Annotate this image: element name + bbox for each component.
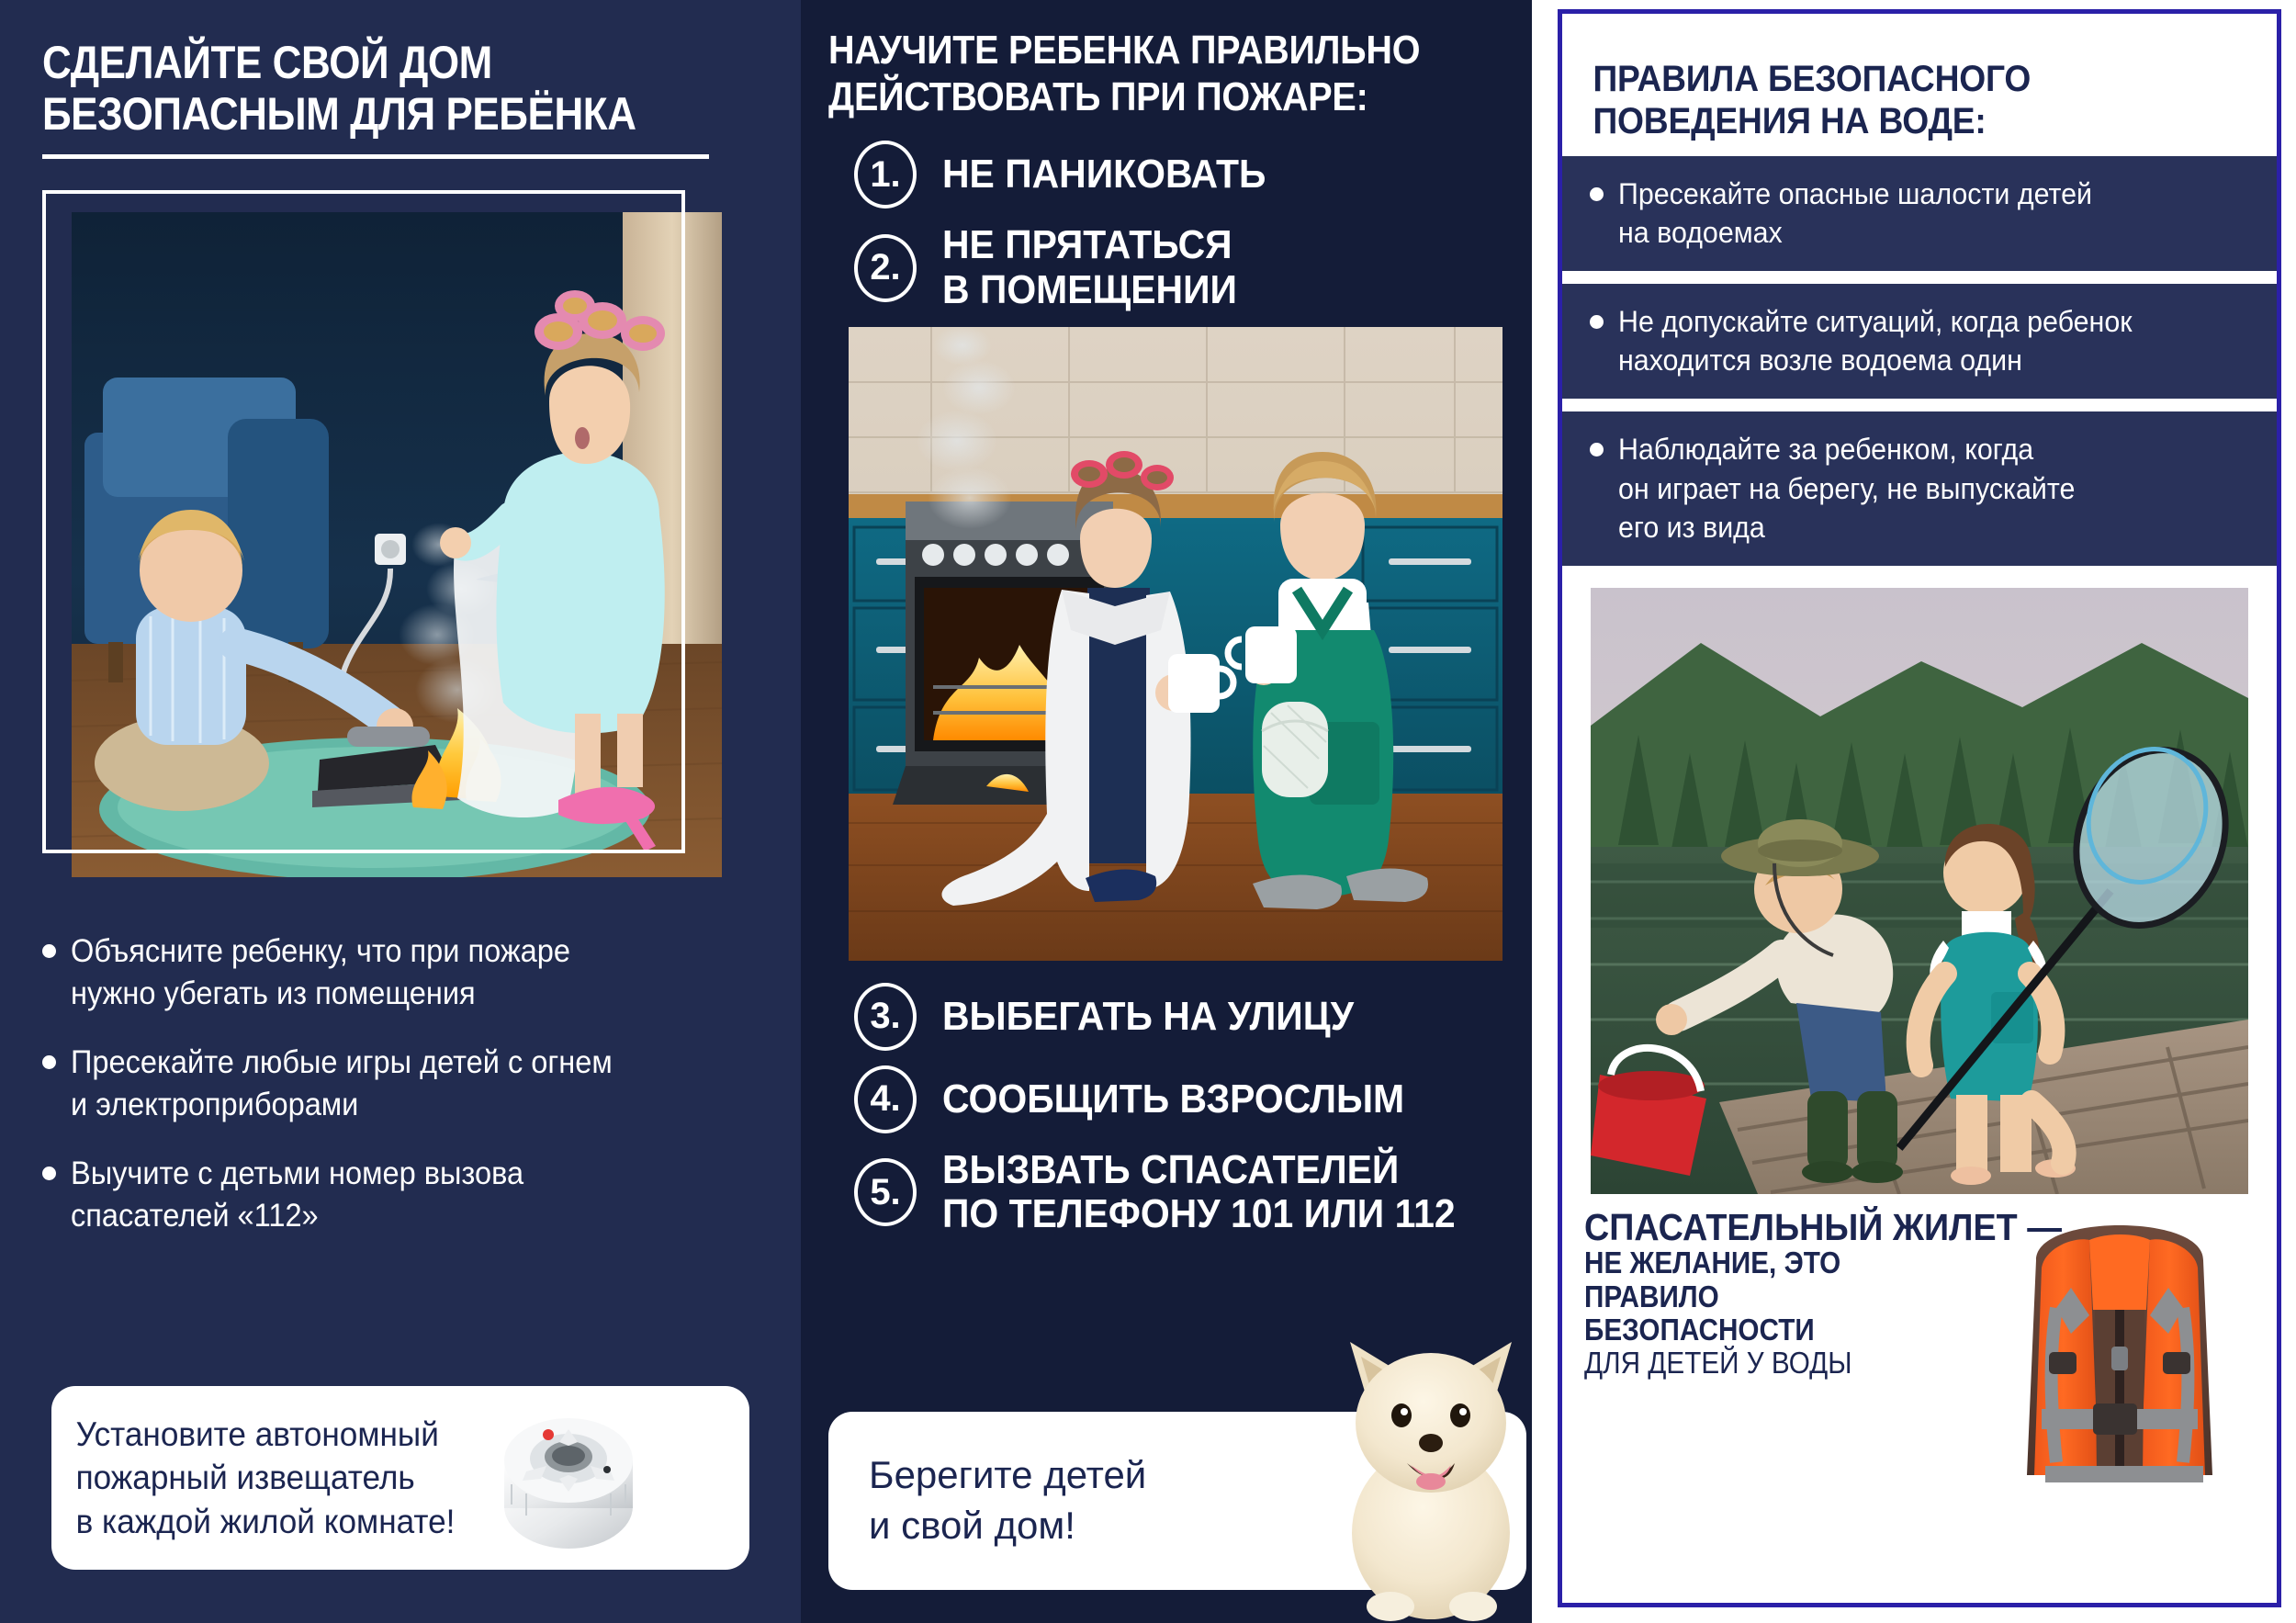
step-number-badge: 5. [854, 1158, 917, 1226]
list-item: Выучите с детьми номер вызова спасателей… [42, 1153, 759, 1236]
bullet-dot-icon [1590, 187, 1604, 201]
bullet-text: Выучите с детьми номер вызова спасателей… [71, 1153, 523, 1236]
list-item: 1. НЕ ПАНИКОВАТЬ [828, 141, 1510, 209]
column-home-safety: СДЕЛАЙТЕ СВОЙ ДОМ БЕЗОПАСНЫМ ДЛЯ РЕБЁНКА [0, 0, 801, 1623]
bullet-dot-icon [1590, 315, 1604, 329]
list-item: 4. СООБЩИТЬ ВЗРОСЛЫМ [828, 1065, 1510, 1133]
step-label: СООБЩИТЬ ВЗРОСЛЫМ [942, 1077, 1404, 1121]
life-jacket-line2a: НЕ ЖЕЛАНИЕ, [1584, 1245, 1776, 1279]
list-item: Наблюдайте за ребенком, когда он играет … [1562, 411, 2277, 566]
right-column-title: ПРАВИЛА БЕЗОПАСНОГО ПОВЕДЕНИЯ НА ВОДЕ: [1562, 14, 2227, 143]
column-fire-actions: НАУЧИТЕ РЕБЕНКА ПРАВИЛЬНО ДЕЙСТВОВАТЬ ПР… [801, 0, 1532, 1623]
list-item: Пресекайте любые игры детей с огнем и эл… [42, 1042, 759, 1125]
list-item: Объясните ребенку, что при пожаре нужно … [42, 930, 759, 1014]
bullet-dot-icon [42, 944, 56, 958]
detector-led-icon [543, 1429, 554, 1440]
smoke-detector-card-text: Установите автономный пожарный извещател… [51, 1400, 455, 1556]
mid-column-title: НАУЧИТЕ РЕБЕНКА ПРАВИЛЬНО ДЕЙСТВОВАТЬ ПР… [828, 28, 1442, 120]
step-label: ВЫЗВАТЬ СПАСАТЕЛЕЙ ПО ТЕЛЕФОНУ 101 ИЛИ 1… [942, 1148, 1456, 1237]
mid-photo [849, 327, 1503, 961]
bullet-dot-icon [42, 1055, 56, 1069]
bullet-dot-icon [1590, 443, 1604, 456]
bullet-dot-icon [42, 1167, 56, 1180]
protect-children-card-text: Берегите детей и свой дом! [828, 1450, 1146, 1550]
step-label: НЕ ПРЯТАТЬСЯ В ПОМЕЩЕНИИ [942, 223, 1237, 312]
smoke-detector-icon [477, 1392, 660, 1563]
smoke-detector-card: Установите автономный пожарный извещател… [51, 1386, 749, 1570]
life-jacket-block: СПАСАТЕЛЬНЫЙ ЖИЛЕТ — НЕ ЖЕЛАНИЕ, ЭТО ПРА… [1562, 1194, 2277, 1497]
fire-steps-bottom: 3. ВЫБЕГАТЬ НА УЛИЦУ 4. СООБЩИТЬ ВЗРОСЛЫ… [828, 983, 1510, 1237]
children-on-dock-lake-illustration [1591, 588, 2248, 1194]
step-number-badge: 3. [854, 983, 917, 1051]
step-number-badge: 1. [854, 141, 917, 209]
bullet-text: Не допускайте ситуаций, когда ребенок на… [1618, 302, 2133, 380]
safety-poster: СДЕЛАЙТЕ СВОЙ ДОМ БЕЗОПАСНЫМ ДЛЯ РЕБЁНКА [0, 0, 2296, 1623]
right-photo [1591, 588, 2248, 1194]
life-jacket-icon [1968, 1200, 2271, 1503]
left-bullet-list: Объясните ребенку, что при пожаре нужно … [42, 930, 759, 1236]
list-item: Не допускайте ситуаций, когда ребенок на… [1562, 284, 2277, 399]
bullet-text: Пресекайте опасные шалости детей на водо… [1618, 175, 2092, 253]
title-underline-rule [42, 154, 709, 159]
bullet-text: Пресекайте любые игры детей с огнем и эл… [71, 1042, 613, 1125]
left-column-title: СДЕЛАЙТЕ СВОЙ ДОМ БЕЗОПАСНЫМ ДЛЯ РЕБЁНКА [42, 37, 672, 140]
bullet-text: Наблюдайте за ребенком, когда он играет … [1618, 430, 2075, 547]
step-number-badge: 4. [854, 1065, 917, 1133]
list-item: 2. НЕ ПРЯТАТЬСЯ В ПОМЕЩЕНИИ [828, 223, 1510, 312]
water-safety-panel: ПРАВИЛА БЕЗОПАСНОГО ПОВЕДЕНИЯ НА ВОДЕ: П… [1558, 9, 2281, 1607]
step-label: ВЫБЕГАТЬ НА УЛИЦУ [942, 995, 1354, 1039]
step-label: НЕ ПАНИКОВАТЬ [942, 152, 1266, 197]
list-item: 3. ВЫБЕГАТЬ НА УЛИЦУ [828, 983, 1510, 1051]
children-kitchen-oven-fire-illustration [849, 327, 1503, 961]
children-ironing-fire-illustration [72, 212, 722, 877]
bullet-text: Объясните ребенку, что при пожаре нужно … [71, 930, 570, 1014]
step-number-badge: 2. [854, 234, 917, 302]
left-photo [72, 212, 722, 877]
right-bullet-list: Пресекайте опасные шалости детей на водо… [1562, 156, 2277, 566]
column-water-safety: ПРАВИЛА БЕЗОПАСНОГО ПОВЕДЕНИЯ НА ВОДЕ: П… [1532, 0, 2296, 1623]
pomeranian-dog-icon [1293, 1320, 1532, 1623]
life-jacket-line2b: ЭТО [1784, 1245, 1841, 1279]
left-photo-frame [42, 190, 722, 888]
list-item: 5. ВЫЗВАТЬ СПАСАТЕЛЕЙ ПО ТЕЛЕФОНУ 101 ИЛ… [828, 1148, 1510, 1237]
list-item: Пресекайте опасные шалости детей на водо… [1562, 156, 2277, 271]
fire-steps-top: 1. НЕ ПАНИКОВАТЬ 2. НЕ ПРЯТАТЬСЯ В ПОМЕЩ… [828, 141, 1510, 312]
